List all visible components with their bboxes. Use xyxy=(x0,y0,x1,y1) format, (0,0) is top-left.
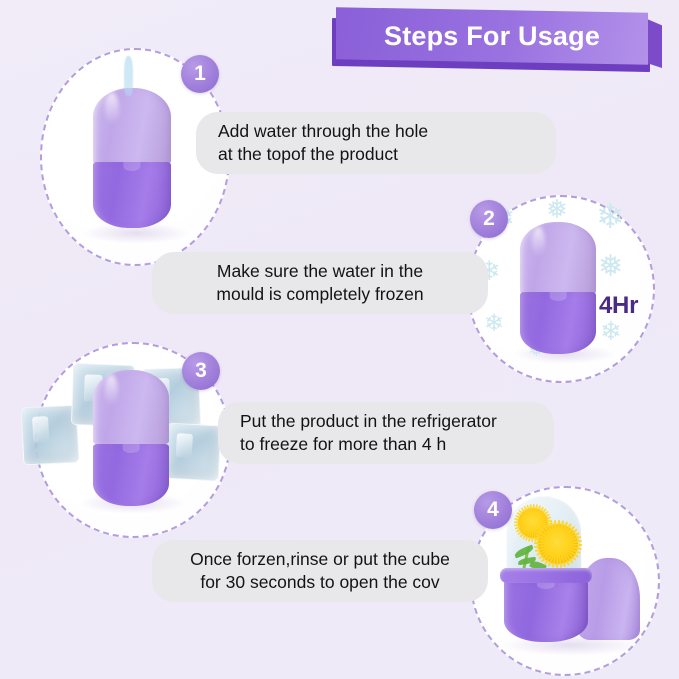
step-4-number-badge: 4 xyxy=(474,491,512,529)
capsule-gloss xyxy=(105,93,118,125)
step-3-text-bubble: Put the product in the refrigerator to f… xyxy=(218,402,554,464)
step-4-text-bubble: Once forzen,rinse or put the cube for 30… xyxy=(152,540,488,602)
flower-head xyxy=(538,524,578,564)
snowflake-icon: ❄ xyxy=(484,312,504,336)
step-4-mould-rim xyxy=(500,568,592,583)
step-4-text: Once forzen,rinse or put the cube for 30… xyxy=(174,548,466,594)
water-stream-icon xyxy=(124,56,133,96)
step-2-number-badge: 2 xyxy=(470,200,508,238)
snowflake-icon: ❅ xyxy=(598,252,623,282)
step-1-number-badge: 1 xyxy=(181,55,219,93)
capsule-notch xyxy=(123,444,140,453)
page-title: Steps For Usage xyxy=(384,21,600,52)
snowflake-icon: ❄ xyxy=(596,200,625,234)
snowflake-icon: ❅ xyxy=(546,196,568,222)
step-2-text: Make sure the water in the mould is comp… xyxy=(174,260,466,306)
ice-cube-icon xyxy=(165,423,222,482)
capsule-base xyxy=(520,292,596,354)
capsule-cap xyxy=(520,222,596,294)
capsule-notch xyxy=(550,292,567,301)
step-1-text-bubble: Add water through the hole at the topof … xyxy=(196,112,556,174)
capsule-gloss xyxy=(532,227,545,257)
step-3-text: Put the product in the refrigerator to f… xyxy=(240,410,497,456)
capsule-gloss xyxy=(105,375,118,406)
step-3-number-badge: 3 xyxy=(182,352,220,390)
snowflake-icon: ❄ xyxy=(600,318,622,344)
step-3-capsule-mould xyxy=(93,370,169,506)
step-1-text: Add water through the hole at the topof … xyxy=(218,120,428,166)
capsule-notch xyxy=(123,162,140,171)
step-1-capsule-mould xyxy=(93,88,171,228)
step-2-duration-annotation: 4Hr xyxy=(599,292,638,320)
capsule-base xyxy=(93,444,169,506)
banner-body: Steps For Usage xyxy=(336,7,648,64)
capsule-cap xyxy=(93,370,169,444)
step-4-mould-base xyxy=(504,580,588,642)
step-2-capsule-mould xyxy=(520,222,596,354)
step-2-text-bubble: Make sure the water in the mould is comp… xyxy=(152,252,488,314)
page-title-banner: Steps For Usage xyxy=(336,10,662,68)
capsule-cap xyxy=(93,88,171,164)
capsule-base xyxy=(93,162,171,228)
